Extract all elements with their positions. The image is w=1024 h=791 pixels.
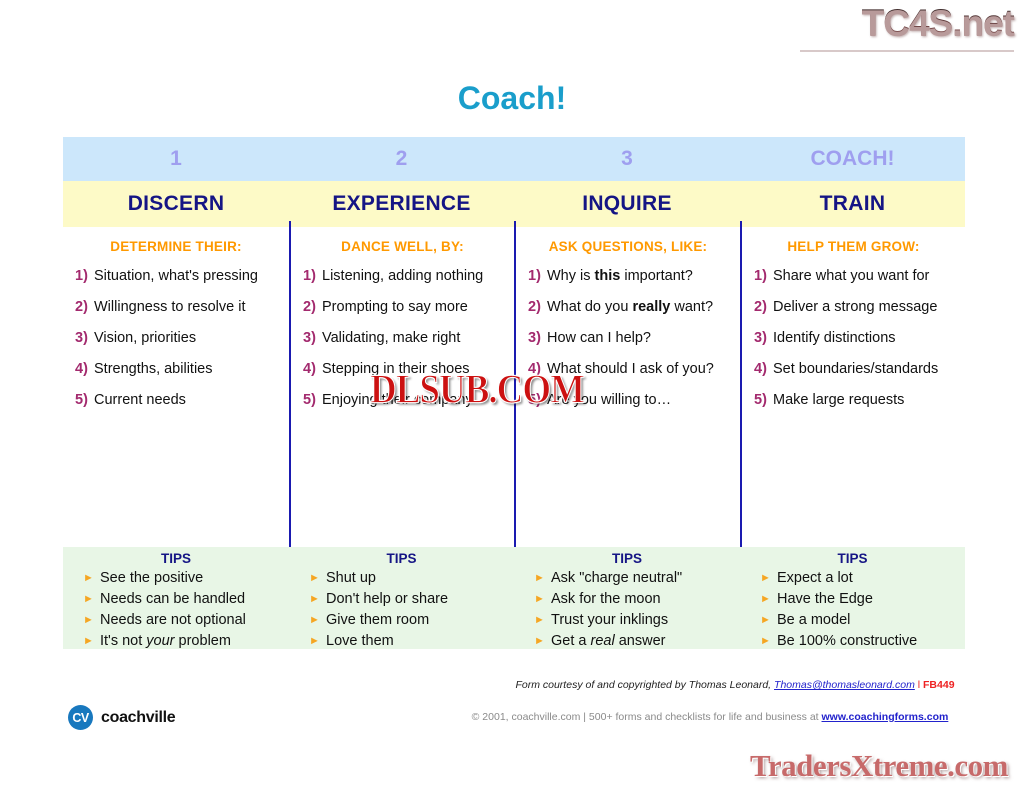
triangle-bullet-icon: ► <box>83 631 100 651</box>
item-text: Make large requests <box>773 391 959 409</box>
item-number: 3) <box>75 329 94 347</box>
tips-column-3: TIPS ►Ask "charge neutral" ►Ask for the … <box>514 547 740 649</box>
item-text: Vision, priorities <box>94 329 283 347</box>
tc4s-watermark: TC4S.net <box>862 2 1014 44</box>
column-title-experience: EXPERIENCE <box>289 181 514 227</box>
tip-item: ►Needs are not optional <box>83 610 283 631</box>
column-number-2: 2 <box>289 137 514 181</box>
item-number: 1) <box>754 267 773 285</box>
triangle-bullet-icon: ► <box>760 568 777 588</box>
list-item: 5)Current needs <box>75 391 283 409</box>
tip-text: Be 100% constructive <box>777 631 959 651</box>
item-number: 3) <box>754 329 773 347</box>
tip-item: ►Love them <box>309 631 508 652</box>
tip-item: ►Shut up <box>309 568 508 589</box>
credit-prefix: Form courtesy of and copyrighted by Thom… <box>515 679 774 691</box>
tip-text: Give them room <box>326 610 508 630</box>
tips-heading: TIPS <box>520 551 734 566</box>
tips-list-1: ►See the positive ►Needs can be handled … <box>69 568 283 652</box>
triangle-bullet-icon: ► <box>309 589 326 609</box>
item-text: Willingness to resolve it <box>94 298 283 316</box>
tip-text: Trust your inklings <box>551 610 734 630</box>
tip-item: ►Give them room <box>309 610 508 631</box>
tips-heading: TIPS <box>746 551 959 566</box>
item-number: 4) <box>303 360 322 378</box>
tip-text: Ask for the moon <box>551 589 734 609</box>
tip-text: See the positive <box>100 568 283 588</box>
column-title-train: TRAIN <box>740 181 965 227</box>
credit-email-link[interactable]: Thomas@thomasleonard.com <box>774 679 915 691</box>
list-item: 1)Share what you want for <box>754 267 959 285</box>
triangle-bullet-icon: ► <box>309 610 326 630</box>
item-text: Listening, adding nothing <box>322 267 508 285</box>
column-divider-tick <box>289 221 291 227</box>
item-list-1: 1)Situation, what's pressing 2)Willingne… <box>67 267 285 409</box>
column-divider-tick <box>740 221 742 227</box>
coachville-logo: CV coachville <box>68 705 175 730</box>
item-number: 4) <box>754 360 773 378</box>
column-title-discern: DISCERN <box>63 181 289 227</box>
page-title: Coach! <box>0 80 1024 117</box>
tip-item: ►See the positive <box>83 568 283 589</box>
tip-text: Shut up <box>326 568 508 588</box>
form-credit-line: Form courtesy of and copyrighted by Thom… <box>500 679 970 691</box>
tip-item: ►Be a model <box>760 610 959 631</box>
item-text: Situation, what's pressing <box>94 267 283 285</box>
column-number-3: 3 <box>514 137 740 181</box>
tip-item: ►Ask for the moon <box>534 589 734 610</box>
column-subhead-4: HELP THEM GROW: <box>746 239 961 254</box>
tip-item: ►Trust your inklings <box>534 610 734 631</box>
column-subhead-1: DETERMINE THEIR: <box>67 239 285 254</box>
column-number-4: COACH! <box>740 137 965 181</box>
tips-heading: TIPS <box>69 551 283 566</box>
triangle-bullet-icon: ► <box>534 631 551 651</box>
item-number: 2) <box>75 298 94 316</box>
item-text: Share what you want for <box>773 267 959 285</box>
dlsub-watermark: DLSUB.COM <box>370 365 584 413</box>
triangle-bullet-icon: ► <box>760 589 777 609</box>
tip-item: ►Expect a lot <box>760 568 959 589</box>
list-item: 3)Validating, make right <box>303 329 508 347</box>
triangle-bullet-icon: ► <box>309 568 326 588</box>
triangle-bullet-icon: ► <box>534 589 551 609</box>
list-item: 2)Prompting to say more <box>303 298 508 316</box>
tips-list-3: ►Ask "charge neutral" ►Ask for the moon … <box>520 568 734 652</box>
tips-column-2: TIPS ►Shut up ►Don't help or share ►Give… <box>289 547 514 649</box>
tip-text: Ask "charge neutral" <box>551 568 734 588</box>
item-text: Strengths, abilities <box>94 360 283 378</box>
column-number-1: 1 <box>63 137 289 181</box>
item-number: 5) <box>754 391 773 409</box>
tips-column-1: TIPS ►See the positive ►Needs can be han… <box>63 547 289 649</box>
item-text: Set boundaries/standards <box>773 360 959 378</box>
item-number: 2) <box>528 298 547 316</box>
tip-text: Love them <box>326 631 508 651</box>
list-item: 1)Situation, what's pressing <box>75 267 283 285</box>
item-text: Prompting to say more <box>322 298 508 316</box>
column-number-band: 1 2 3 COACH! <box>63 137 965 181</box>
list-item: 4)Strengths, abilities <box>75 360 283 378</box>
tips-column-4: TIPS ►Expect a lot ►Have the Edge ►Be a … <box>740 547 965 649</box>
item-number: 5) <box>75 391 94 409</box>
tip-item: ►It's not your problem <box>83 631 283 652</box>
item-text: What do you really want? <box>547 298 734 316</box>
triangle-bullet-icon: ► <box>83 568 100 588</box>
item-number: 4) <box>75 360 94 378</box>
triangle-bullet-icon: ► <box>309 631 326 651</box>
tip-text: Don't help or share <box>326 589 508 609</box>
item-text: Deliver a strong message <box>773 298 959 316</box>
tips-list-2: ►Shut up ►Don't help or share ►Give them… <box>295 568 508 652</box>
tip-text: Needs are not optional <box>100 610 283 630</box>
tip-item: ►Needs can be handled <box>83 589 283 610</box>
list-item: 4)Set boundaries/standards <box>754 360 959 378</box>
item-number: 5) <box>303 391 322 409</box>
triangle-bullet-icon: ► <box>760 610 777 630</box>
tip-item: ►Ask "charge neutral" <box>534 568 734 589</box>
triangle-bullet-icon: ► <box>534 610 551 630</box>
column-divider-tick <box>514 221 516 227</box>
item-text: Validating, make right <box>322 329 508 347</box>
column-subhead-3: ASK QUESTIONS, LIKE: <box>520 239 736 254</box>
list-item: 1)Why is this important? <box>528 267 734 285</box>
tip-item: ►Be 100% constructive <box>760 631 959 652</box>
cv-badge-icon: CV <box>68 705 93 730</box>
tip-text: Be a model <box>777 610 959 630</box>
item-text: How can I help? <box>547 329 734 347</box>
copyright-line: © 2001, coachville.com | 500+ forms and … <box>450 711 970 723</box>
list-item: 2)Willingness to resolve it <box>75 298 283 316</box>
tip-item: ►Get a real answer <box>534 631 734 652</box>
list-item: 3)How can I help? <box>528 329 734 347</box>
item-text: Identify distinctions <box>773 329 959 347</box>
tip-text: Needs can be handled <box>100 589 283 609</box>
triangle-bullet-icon: ► <box>760 631 777 651</box>
coachingforms-link[interactable]: www.coachingforms.com <box>822 711 949 723</box>
tips-list-4: ►Expect a lot ►Have the Edge ►Be a model… <box>746 568 959 652</box>
triangle-bullet-icon: ► <box>534 568 551 588</box>
triangle-bullet-icon: ► <box>83 610 100 630</box>
item-text: Why is this important? <box>547 267 734 285</box>
tip-item: ►Have the Edge <box>760 589 959 610</box>
header-rule <box>800 50 1014 52</box>
tips-heading: TIPS <box>295 551 508 566</box>
tradersxtreme-watermark: TradersXtreme.com <box>750 748 1008 784</box>
list-item: 1)Listening, adding nothing <box>303 267 508 285</box>
item-number: 3) <box>303 329 322 347</box>
item-number: 3) <box>528 329 547 347</box>
column-title-inquire: INQUIRE <box>514 181 740 227</box>
tip-text: It's not your problem <box>100 631 283 651</box>
item-number: 1) <box>75 267 94 285</box>
item-text: Current needs <box>94 391 283 409</box>
tips-band: TIPS ►See the positive ►Needs can be han… <box>63 547 965 649</box>
column-subhead-2: DANCE WELL, BY: <box>295 239 510 254</box>
item-number: 2) <box>754 298 773 316</box>
list-item: 5)Make large requests <box>754 391 959 409</box>
list-item: 3)Vision, priorities <box>75 329 283 347</box>
item-number: 1) <box>528 267 547 285</box>
coachville-wordmark: coachville <box>101 709 175 727</box>
list-item: 2)Deliver a strong message <box>754 298 959 316</box>
list-item: 2)What do you really want? <box>528 298 734 316</box>
triangle-bullet-icon: ► <box>83 589 100 609</box>
tip-item: ►Don't help or share <box>309 589 508 610</box>
column-body-1: DETERMINE THEIR: 1)Situation, what's pre… <box>63 227 289 547</box>
tip-text: Expect a lot <box>777 568 959 588</box>
list-item: 3)Identify distinctions <box>754 329 959 347</box>
item-number: 2) <box>303 298 322 316</box>
copyright-prefix: © 2001, coachville.com | 500+ forms and … <box>472 711 822 723</box>
column-body-4: HELP THEM GROW: 1)Share what you want fo… <box>740 227 965 547</box>
tip-text: Get a real answer <box>551 631 734 651</box>
credit-separator: l <box>915 679 923 691</box>
form-code: FB449 <box>923 679 955 691</box>
item-number: 1) <box>303 267 322 285</box>
tip-text: Have the Edge <box>777 589 959 609</box>
item-list-4: 1)Share what you want for 2)Deliver a st… <box>746 267 961 409</box>
